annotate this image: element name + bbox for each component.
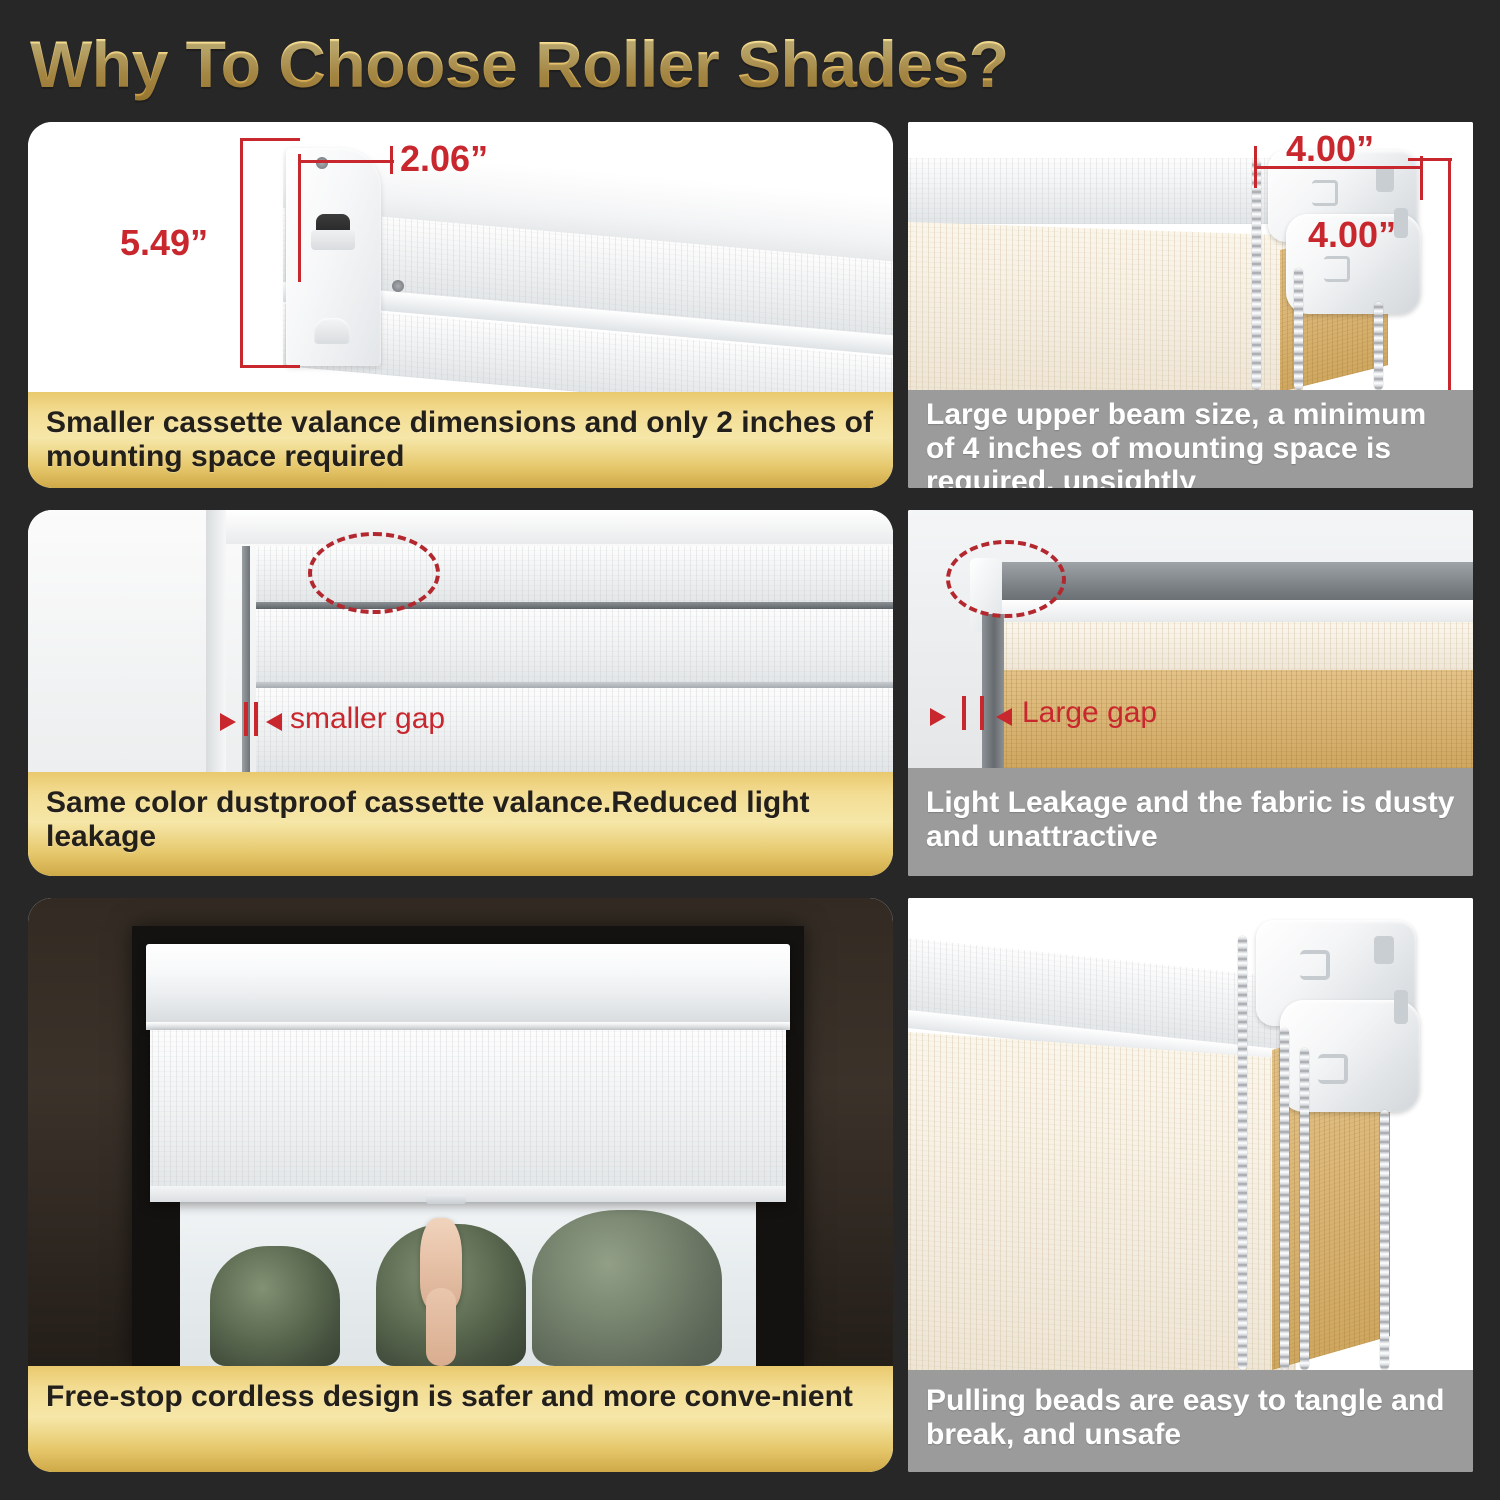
- beam-dim-height-tick-top: [1408, 158, 1452, 161]
- large-gap-tick-a: [962, 696, 966, 730]
- large-upper-beam-photo: 4.00” 4.00”: [908, 122, 1473, 390]
- panel-cassette-dimensions: 2.06” 5.49” Smaller cassette valance dim…: [28, 122, 893, 488]
- gap-arrow-right-icon: [266, 713, 282, 731]
- seam-highlight-ellipse: [308, 532, 440, 614]
- beads-bracket-emboss-icon-2: [1318, 1054, 1348, 1084]
- upper-beam-roll: [908, 158, 1308, 224]
- room-interior: [28, 898, 893, 1366]
- caption-cassette-dimensions: Smaller cassette valance dimensions and …: [28, 392, 893, 488]
- large-gap-column: [982, 614, 1004, 768]
- tree-left: [210, 1246, 340, 1366]
- dustproof-valance-photo: smaller gap: [28, 510, 893, 772]
- panel-large-upper-beam: 4.00” 4.00” Large upper beam size, a min…: [908, 122, 1473, 488]
- dim-width-line: [298, 160, 394, 163]
- tree-right: [532, 1210, 722, 1366]
- bead-chain-3: [1300, 1048, 1309, 1370]
- bracket-slot-icon: [1376, 166, 1394, 192]
- bead-chain-2: [1280, 1028, 1289, 1370]
- bottom-rail-grip: [426, 1194, 466, 1204]
- caption-large-upper-beam: Large upper beam size, a minimum of 4 in…: [908, 390, 1473, 488]
- beads-bracket-slot-icon-2: [1394, 990, 1408, 1024]
- room-cassette-valance: [146, 944, 790, 1026]
- dim-height-tick-bottom: [240, 365, 300, 368]
- window-view: [180, 1198, 756, 1366]
- panel-dustproof-valance: smaller gap Same color dustproof cassett…: [28, 510, 893, 876]
- beam-dim-width-tick-right: [1420, 156, 1423, 200]
- large-gap-tick-b: [980, 696, 984, 730]
- dim-height-line: [240, 138, 243, 368]
- casing-edge-shadow: [206, 510, 226, 772]
- socket-housing: [311, 230, 355, 250]
- dim-height-tick-top: [240, 138, 300, 141]
- dim-width-tick: [390, 146, 393, 174]
- caption-cordless-design: Free-stop cordless design is safer and m…: [28, 1366, 893, 1472]
- beam-dimension-label-width: 4.00”: [1286, 128, 1374, 170]
- casing-head: [226, 510, 893, 544]
- room-shade-bottom-rail: [150, 1186, 786, 1202]
- screw-icon-2: [392, 280, 404, 292]
- panel-cordless-design: Free-stop cordless design is safer and m…: [28, 898, 893, 1472]
- panel-light-leakage: Large gap Light Leakage and the fabric i…: [908, 510, 1473, 876]
- beam-shade-fabric: [908, 222, 1303, 390]
- large-gap-arrow-left-icon: [930, 708, 946, 726]
- dimension-label-height: 5.49”: [120, 222, 208, 264]
- panel-pulling-beads: Pulling beads are easy to tangle and bre…: [908, 898, 1473, 1472]
- bead-chain-mid: [1294, 268, 1303, 390]
- page-title-text: Why To Choose Roller Shades?: [30, 26, 1009, 102]
- caption-pulling-beads: Pulling beads are easy to tangle and bre…: [908, 1370, 1473, 1472]
- dim-left-vertical-guide: [298, 154, 301, 282]
- bracket-slot-icon-2: [1394, 208, 1408, 238]
- gap-tick-a: [244, 702, 248, 736]
- screw-icon: [316, 157, 328, 169]
- beam-dimension-label-height: 4.00”: [1308, 214, 1396, 256]
- page-title: Why To Choose Roller Shades?: [30, 18, 1470, 110]
- bead-chain-front: [1252, 160, 1261, 390]
- beads-bracket-slot-icon: [1374, 936, 1394, 964]
- dimension-label-width: 2.06”: [400, 138, 488, 180]
- shade-side-rail: [242, 546, 250, 772]
- bead-chain-rear: [1374, 302, 1383, 390]
- light-leakage-photo: Large gap: [908, 510, 1473, 768]
- bead-chain-1: [1238, 936, 1247, 1370]
- leakage-fabric-top: [1004, 622, 1473, 674]
- large-gap-arrow-right-icon: [996, 708, 1012, 726]
- tube-lip: [986, 600, 1473, 622]
- bracket-emboss-icon: [1312, 180, 1338, 206]
- beam-dim-height-line: [1448, 158, 1451, 390]
- gap-tick-b: [254, 702, 258, 736]
- forearm: [426, 1288, 456, 1366]
- room-shade-fabric: [150, 1030, 786, 1202]
- gap-label-large: Large gap: [1022, 696, 1157, 730]
- bead-chain-4: [1380, 1110, 1389, 1370]
- bracket-emboss-icon-2: [1324, 256, 1350, 282]
- gap-arrow-left-icon: [220, 713, 236, 731]
- beads-bracket-emboss-icon: [1300, 950, 1330, 980]
- caption-light-leakage: Light Leakage and the fabric is dusty an…: [908, 768, 1473, 876]
- room-valance-lip: [146, 1022, 790, 1030]
- leakage-highlight-ellipse: [946, 540, 1066, 618]
- mounting-clip: [314, 318, 350, 344]
- caption-dustproof-valance: Same color dustproof cassette valance.Re…: [28, 772, 893, 876]
- shade-fabric-upper: [256, 609, 893, 687]
- gap-label-smaller: smaller gap: [290, 702, 445, 736]
- cordless-design-photo: [28, 898, 893, 1366]
- infographic-root: Why To Choose Roller Shades? 2.06”: [0, 0, 1500, 1500]
- cassette-dimensions-photo: 2.06” 5.49”: [28, 122, 893, 392]
- pulling-beads-photo: [908, 898, 1473, 1370]
